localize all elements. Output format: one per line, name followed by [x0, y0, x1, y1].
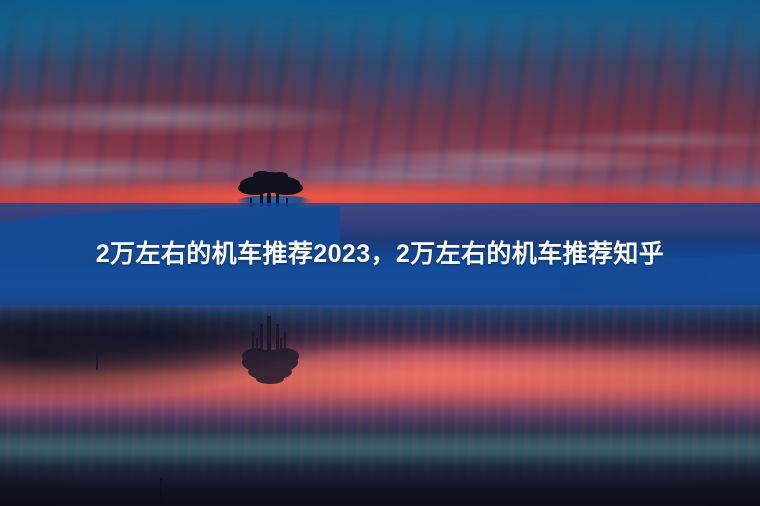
caption-title: 2万左右的机车推荐2023，2万左右的机车推荐知乎	[50, 234, 710, 275]
banner-image: 2万左右的机车推荐2023，2万左右的机车推荐知乎	[0, 0, 760, 506]
caption-band: 2万左右的机车推荐2023，2万左右的机车推荐知乎	[0, 203, 760, 305]
